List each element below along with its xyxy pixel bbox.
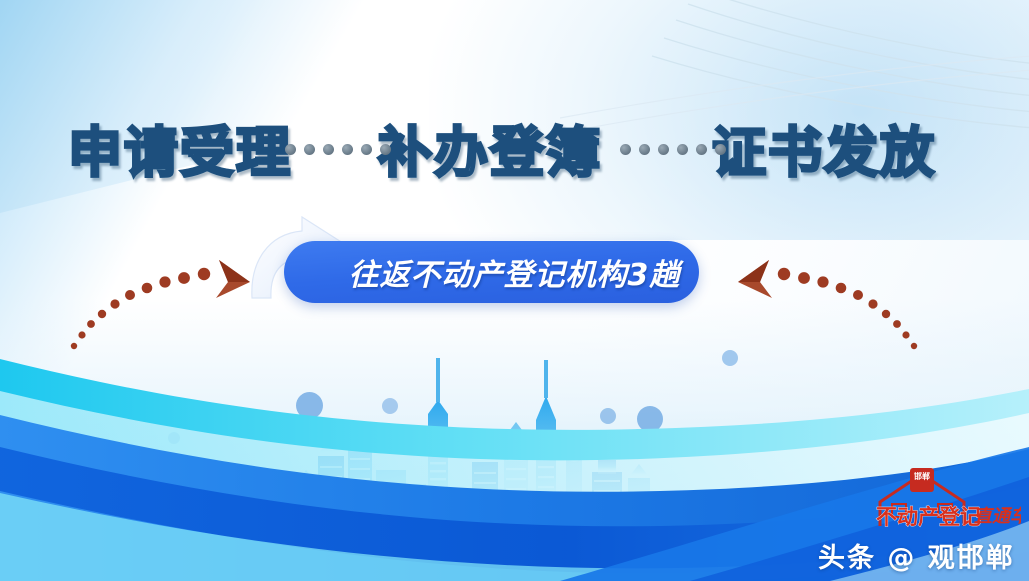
step-title-3: 证书发放 xyxy=(712,113,936,193)
brand-logo: 邯郸 不动产登记 直通车 xyxy=(866,466,1021,528)
poster-canvas: 申请受理 补办登簿 证书发放 xyxy=(0,0,1029,581)
curved-dotted-arrow-right-icon xyxy=(60,236,270,352)
watermark-text: 头条 @ 观邯郸 xyxy=(818,536,1015,575)
steps-row: 申请受理 补办登簿 证书发放 xyxy=(0,113,1029,193)
trips-badge: 往返不动产登记机构3趟 xyxy=(284,241,699,303)
trips-badge-label: 往返不动产登记机构3趟 xyxy=(303,250,681,294)
step-separator-dots-1 xyxy=(285,144,391,155)
step-title-1: 申请受理 xyxy=(68,113,292,193)
logo-seal-text: 邯郸 xyxy=(914,471,930,481)
curved-dotted-arrow-left-icon xyxy=(718,236,928,352)
step-separator-dots-2 xyxy=(620,144,726,155)
step-title-2: 补办登簿 xyxy=(378,113,602,193)
logo-sub-text: 直通车 xyxy=(974,506,1021,527)
logo-main-text: 不动产登记 xyxy=(876,505,981,528)
